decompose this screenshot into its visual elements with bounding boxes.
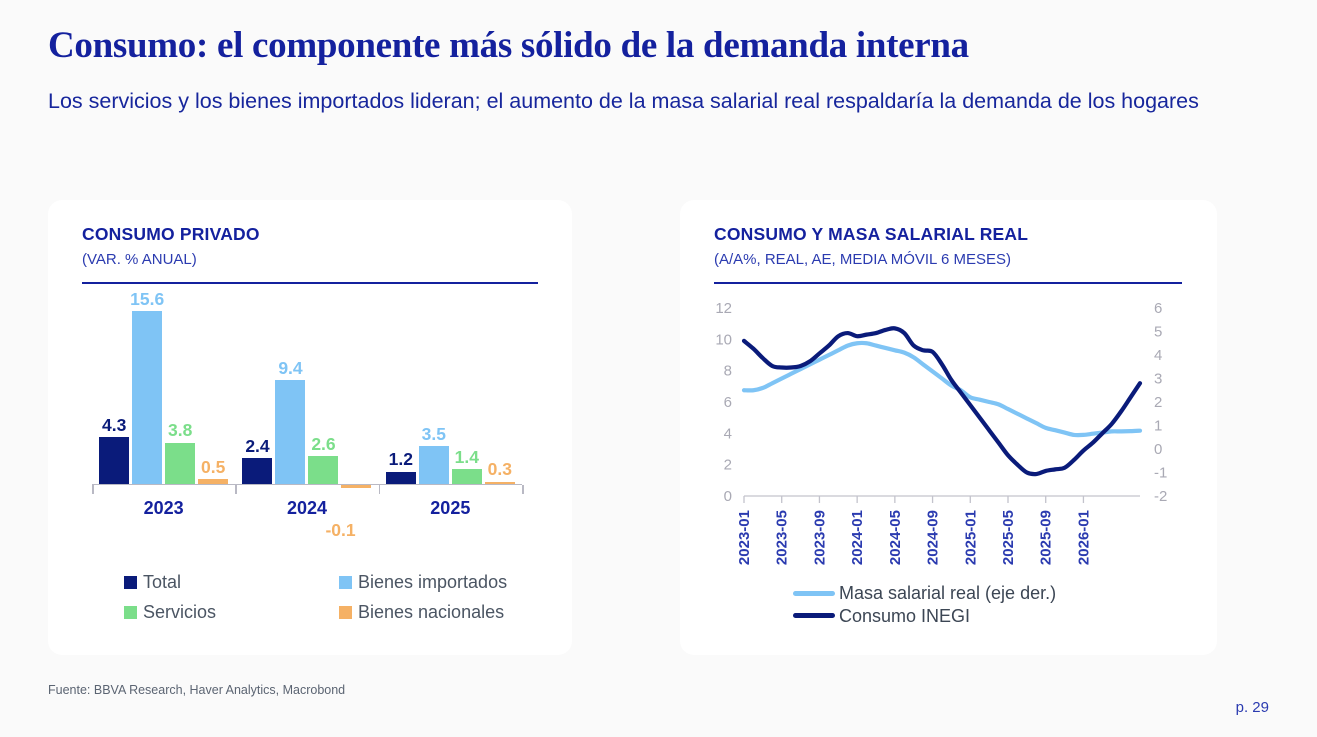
card-right-divider [714, 282, 1182, 284]
bar-chart-baseline [92, 484, 522, 486]
right-axis-tick-label: 6 [1154, 300, 1162, 317]
bar-value-label: 1.2 [389, 451, 413, 469]
card-left-title: CONSUMO PRIVADO [82, 224, 260, 245]
bar-wrapper: 4.3 [99, 300, 129, 485]
bar-wrapper: 1.2 [386, 300, 416, 485]
bar-value-label: 0.3 [488, 461, 512, 479]
x-axis-tick-label: 2024-09 [925, 510, 942, 565]
bar-wrapper: 3.5 [419, 300, 449, 485]
bar-wrapper: -0.1 [341, 300, 371, 485]
legend-swatch-icon [339, 606, 352, 619]
x-axis-tick-label: 2023-05 [774, 510, 791, 565]
bar-negative [341, 485, 371, 488]
bar-wrapper: 9.4 [275, 300, 305, 485]
card-right-subtitle: (A/A%, REAL, AE, MEDIA MÓVIL 6 MESES) [714, 251, 1011, 268]
bar-wrapper: 3.8 [165, 300, 195, 485]
legend-item-consumo-inegi[interactable]: Consumo INEGI [793, 605, 1056, 628]
bar-value-label: 4.3 [102, 417, 126, 435]
footer-source: Fuente: BBVA Research, Haver Analytics, … [48, 683, 345, 697]
x-axis-tick-label: 2025-09 [1038, 510, 1055, 565]
right-axis-tick-label: 1 [1154, 418, 1162, 435]
legend-label: Bienes nacionales [358, 602, 504, 623]
legend-item-masa-salarial-real[interactable]: Masa salarial real (eje der.) [793, 582, 1056, 605]
left-axis-tick-label: 10 [715, 331, 732, 348]
card-consumo-masa-salarial: CONSUMO Y MASA SALARIAL REAL (A/A%, REAL… [680, 200, 1217, 655]
line-series-masa-salarial-real [744, 343, 1140, 435]
bar-value-label: 1.4 [455, 449, 479, 467]
bar-value-label: 0.5 [201, 459, 225, 477]
legend-label: Servicios [143, 602, 216, 623]
legend-swatch-icon [124, 606, 137, 619]
legend-label: Total [143, 572, 181, 593]
right-axis-tick-label: 2 [1154, 394, 1162, 411]
bar-wrapper: 2.4 [242, 300, 272, 485]
legend-label: Consumo INEGI [839, 605, 970, 628]
right-axis-tick-label: -2 [1154, 488, 1167, 505]
legend-item-bienes-nacionales[interactable]: Bienes nacionales [339, 602, 554, 623]
bar-axis-tick [379, 485, 381, 494]
bar [242, 458, 272, 485]
x-axis-tick-label: 2026-01 [1075, 510, 1092, 565]
card-consumo-privado: CONSUMO PRIVADO (VAR. % ANUAL) 4.315.63.… [48, 200, 572, 655]
right-axis-tick-label: 0 [1154, 441, 1162, 458]
bar [165, 443, 195, 485]
legend-item-total[interactable]: Total [124, 572, 339, 593]
x-axis-tick-label: 2023-01 [736, 510, 753, 565]
x-axis-tick-label: 2024-05 [887, 510, 904, 565]
legend-item-bienes-importados[interactable]: Bienes importados [339, 572, 554, 593]
bar-axis-tick [235, 485, 237, 494]
bar-wrapper: 1.4 [452, 300, 482, 485]
bar-wrapper: 2.6 [308, 300, 338, 485]
bar-chart-plot-area: 4.315.63.80.520232.49.42.6-0.120241.23.5… [82, 300, 532, 525]
left-axis-tick-label: 8 [724, 363, 732, 380]
legend-line-icon [793, 613, 835, 618]
right-axis-tick-label: 5 [1154, 324, 1162, 341]
bar-chart-legend: TotalBienes importadosServiciosBienes na… [124, 572, 554, 623]
bar [275, 380, 305, 485]
left-axis-tick-label: 4 [724, 425, 732, 442]
bar-value-label: 3.5 [422, 426, 446, 444]
bar-category-label: 2024 [235, 498, 378, 519]
bar-groups: 4.315.63.80.520232.49.42.6-0.120241.23.5… [92, 300, 522, 485]
bar [419, 446, 449, 485]
card-right-title: CONSUMO Y MASA SALARIAL REAL [714, 224, 1028, 245]
line-series-consumo-inegi [744, 328, 1140, 474]
slide: Consumo: el componente más sólido de la … [0, 0, 1317, 737]
bar [132, 311, 162, 485]
legend-swatch-icon [339, 576, 352, 589]
bar-value-label-negative: -0.1 [325, 520, 355, 541]
right-axis-tick-label: 4 [1154, 347, 1162, 364]
left-axis-tick-label: 12 [715, 300, 732, 317]
legend-swatch-icon [124, 576, 137, 589]
x-axis-tick-label: 2024-01 [849, 510, 866, 565]
right-axis-tick-label: 3 [1154, 371, 1162, 388]
line-chart-legend: Masa salarial real (eje der.)Consumo INE… [793, 582, 1056, 627]
left-axis-tick-label: 6 [724, 394, 732, 411]
legend-item-servicios[interactable]: Servicios [124, 602, 339, 623]
card-left-subtitle: (VAR. % ANUAL) [82, 251, 197, 268]
left-axis-tick-label: 0 [724, 488, 732, 505]
bar [308, 456, 338, 485]
bar-wrapper: 15.6 [132, 300, 162, 485]
bar-group: 1.23.51.40.32025 [379, 300, 522, 485]
bar-value-label: 2.4 [245, 438, 269, 456]
bar-group: 4.315.63.80.52023 [92, 300, 235, 485]
card-left-divider [82, 282, 538, 284]
bar-value-label: 2.6 [311, 436, 335, 454]
line-chart-plot-area: 024681012-2-101234562023-012023-052023-0… [692, 296, 1208, 586]
x-axis-tick-label: 2025-01 [962, 510, 979, 565]
left-axis-tick-label: 2 [724, 457, 732, 474]
page-number: p. 29 [1236, 699, 1269, 716]
x-axis-tick-label: 2023-09 [811, 510, 828, 565]
bar-group: 2.49.42.6-0.12024 [235, 300, 378, 485]
line-chart-svg: 024681012-2-101234562023-012023-052023-0… [692, 296, 1208, 586]
page-title: Consumo: el componente más sólido de la … [48, 26, 1278, 66]
bar-category-label: 2025 [379, 498, 522, 519]
bar-axis-tick [92, 485, 94, 494]
x-axis-tick-label: 2025-05 [1000, 510, 1017, 565]
right-axis-tick-label: -1 [1154, 465, 1167, 482]
legend-line-icon [793, 591, 835, 596]
bar-category-label: 2023 [92, 498, 235, 519]
bar [99, 437, 129, 485]
bar-value-label: 3.8 [168, 422, 192, 440]
bar-value-label: 15.6 [130, 291, 164, 309]
bar-wrapper: 0.5 [198, 300, 228, 485]
legend-label: Bienes importados [358, 572, 507, 593]
bar-wrapper: 0.3 [485, 300, 515, 485]
bar-value-label: 9.4 [278, 360, 302, 378]
legend-label: Masa salarial real (eje der.) [839, 582, 1056, 605]
bar-axis-tick [522, 485, 524, 494]
page-subtitle: Los servicios y los bienes importados li… [48, 86, 1273, 117]
